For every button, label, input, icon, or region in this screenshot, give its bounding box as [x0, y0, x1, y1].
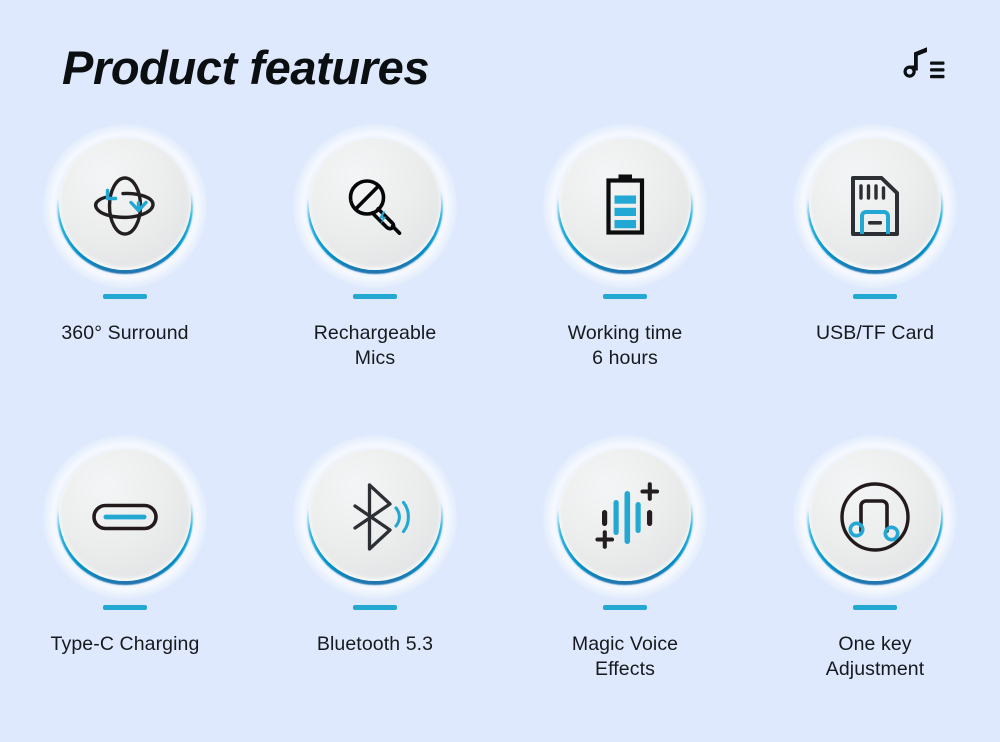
- header: Product features: [0, 0, 1000, 120]
- divider-dash: [603, 294, 647, 299]
- feature-label: Working time 6 hours: [568, 321, 683, 371]
- feature-item-one-key-adjustment[interactable]: One key Adjustment: [750, 431, 1000, 742]
- divider-dash: [353, 605, 397, 610]
- divider-dash: [603, 605, 647, 610]
- feature-label: One key Adjustment: [826, 632, 925, 682]
- divider-dash: [853, 605, 897, 610]
- feature-label: Magic Voice Effects: [572, 632, 678, 682]
- feature-label: 360° Surround: [61, 321, 188, 346]
- usb-type-c-icon: [85, 477, 165, 557]
- battery-icon: [585, 166, 665, 246]
- feature-item-magic-voice-effects[interactable]: Magic Voice Effects: [500, 431, 750, 742]
- rechargeable-microphone-icon: [335, 166, 415, 246]
- rotate-360-surround-icon: [85, 166, 165, 246]
- feature-label: Rechargeable Mics: [314, 321, 437, 371]
- feature-icon-badge: [807, 138, 943, 274]
- feature-item-type-c-charging[interactable]: Type-C Charging: [0, 431, 250, 742]
- feature-icon-badge: [307, 138, 443, 274]
- divider-dash: [103, 294, 147, 299]
- feature-icon-badge: [57, 138, 193, 274]
- feature-icon-badge: [557, 449, 693, 585]
- divider-dash: [353, 294, 397, 299]
- equalizer-voice-effects-icon: [585, 477, 665, 557]
- feature-item-bluetooth[interactable]: Bluetooth 5.3: [250, 431, 500, 742]
- divider-dash: [103, 605, 147, 610]
- feature-item-working-time[interactable]: Working time 6 hours: [500, 120, 750, 431]
- feature-item-usb-tf-card[interactable]: USB/TF Card: [750, 120, 1000, 431]
- feature-item-rechargeable-mics[interactable]: Rechargeable Mics: [250, 120, 500, 431]
- feature-grid: 360° Surround Rechargeable Mics: [0, 120, 1000, 742]
- feature-icon-badge: [807, 449, 943, 585]
- page-title: Product features: [62, 40, 429, 95]
- feature-item-360-surround[interactable]: 360° Surround: [0, 120, 250, 431]
- feature-icon-badge: [57, 449, 193, 585]
- sd-card-icon: [835, 166, 915, 246]
- feature-icon-badge: [557, 138, 693, 274]
- feature-label: Type-C Charging: [51, 632, 200, 657]
- divider-dash: [853, 294, 897, 299]
- feature-label: Bluetooth 5.3: [317, 632, 433, 657]
- feature-label: USB/TF Card: [816, 321, 934, 346]
- bluetooth-icon: [335, 477, 415, 557]
- music-note-lines-icon: [900, 44, 948, 88]
- feature-icon-badge: [307, 449, 443, 585]
- music-note-circle-icon: [835, 477, 915, 557]
